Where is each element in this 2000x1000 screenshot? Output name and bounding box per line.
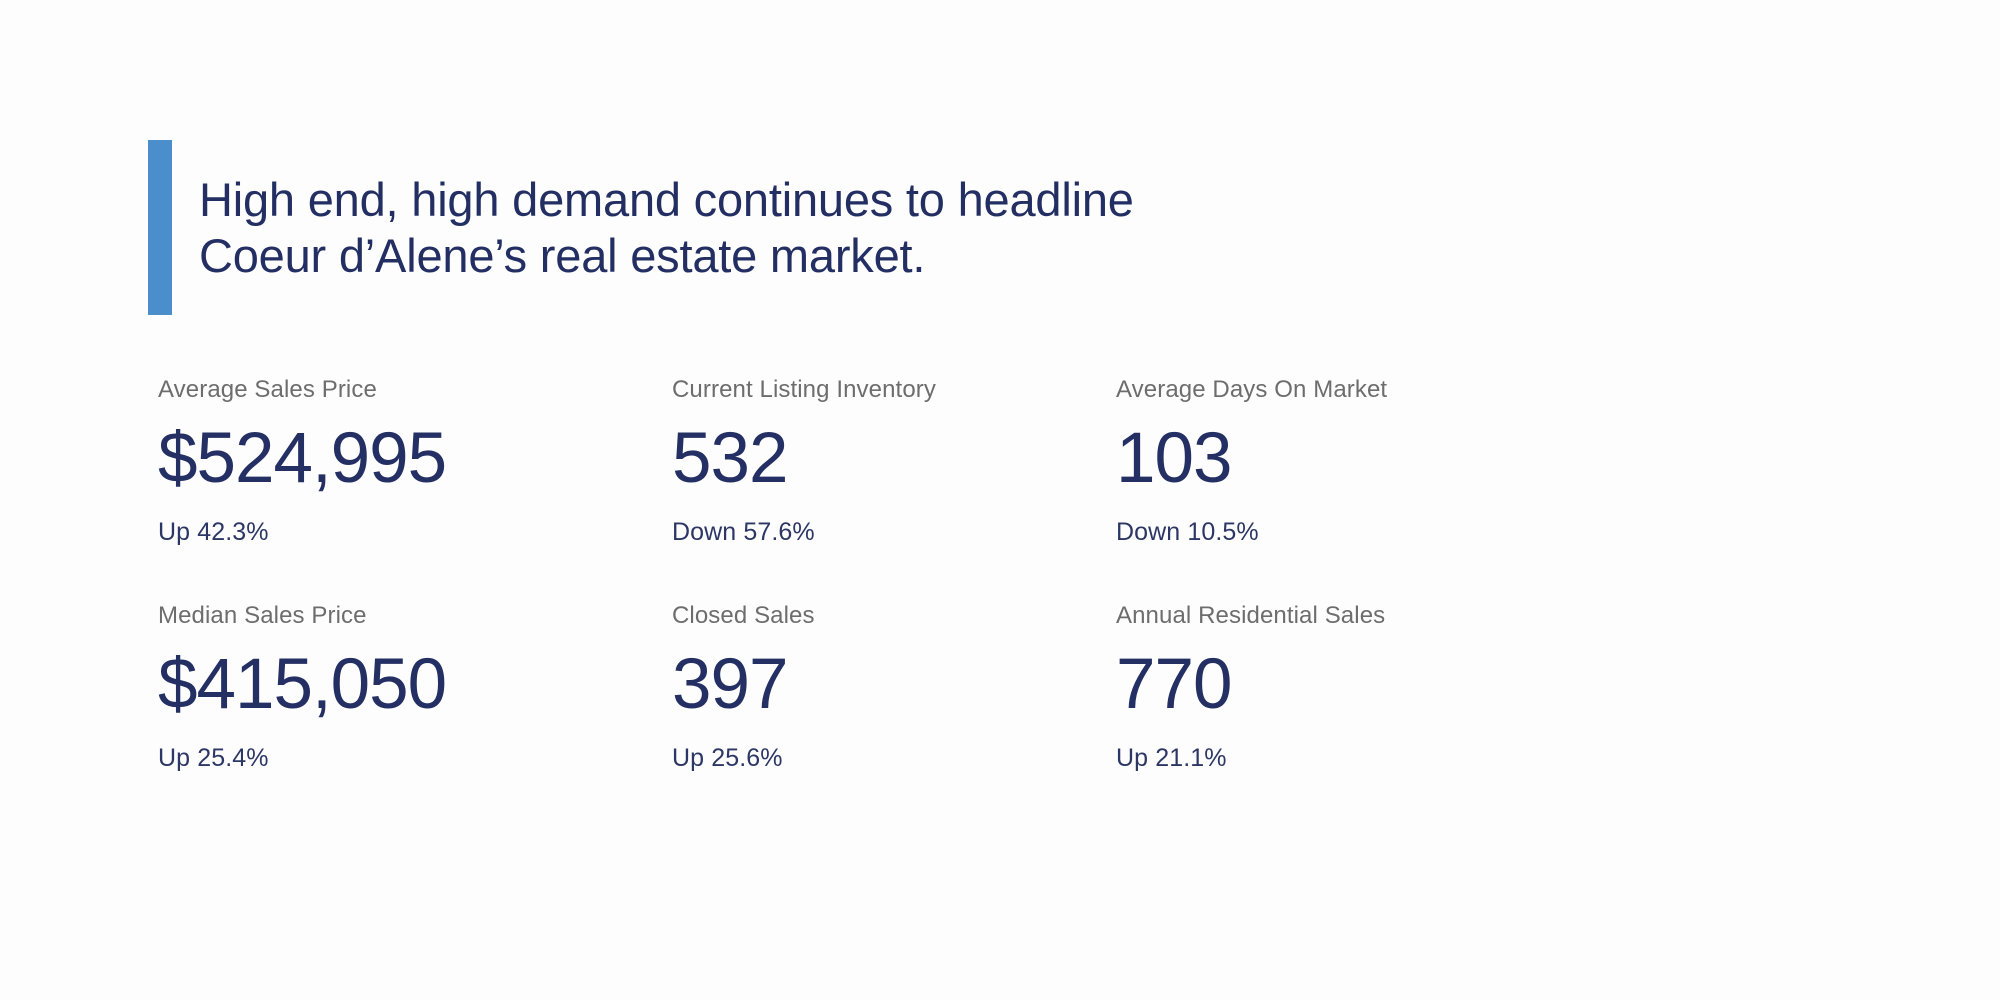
stat-card-annual-residential-sales: Annual Residential Sales 770 Up 21.1% xyxy=(1116,604,1576,771)
stat-change: Up 25.4% xyxy=(158,746,672,771)
stat-label: Closed Sales xyxy=(672,604,1116,628)
stat-card-median-sales-price: Median Sales Price $415,050 Up 25.4% xyxy=(158,604,672,771)
stat-value: 397 xyxy=(672,649,1116,720)
accent-bar xyxy=(148,140,172,315)
market-stats-page: High end, high demand continues to headl… xyxy=(0,0,2000,1000)
stat-value: $524,995 xyxy=(158,423,672,494)
stat-value: 532 xyxy=(672,423,1116,494)
stats-grid: Average Sales Price $524,995 Up 42.3% Cu… xyxy=(158,378,1576,771)
stat-card-average-sales-price: Average Sales Price $524,995 Up 42.3% xyxy=(158,378,672,545)
stat-change: Up 42.3% xyxy=(158,520,672,545)
stat-change: Down 57.6% xyxy=(672,520,1116,545)
stat-card-average-days-on-market: Average Days On Market 103 Down 10.5% xyxy=(1116,378,1576,545)
stat-change: Up 25.6% xyxy=(672,746,1116,771)
stat-label: Current Listing Inventory xyxy=(672,378,1116,402)
stat-label: Median Sales Price xyxy=(158,604,672,628)
page-title: High end, high demand continues to headl… xyxy=(199,171,1134,283)
stat-label: Average Days On Market xyxy=(1116,378,1576,402)
headline-block: High end, high demand continues to headl… xyxy=(148,140,1134,315)
stat-label: Annual Residential Sales xyxy=(1116,604,1576,628)
stat-value: 770 xyxy=(1116,649,1576,720)
stat-value: $415,050 xyxy=(158,649,672,720)
stat-value: 103 xyxy=(1116,423,1576,494)
stat-card-current-listing-inventory: Current Listing Inventory 532 Down 57.6% xyxy=(672,378,1116,545)
stat-change: Down 10.5% xyxy=(1116,520,1576,545)
stat-card-closed-sales: Closed Sales 397 Up 25.6% xyxy=(672,604,1116,771)
stat-change: Up 21.1% xyxy=(1116,746,1576,771)
stat-label: Average Sales Price xyxy=(158,378,672,402)
